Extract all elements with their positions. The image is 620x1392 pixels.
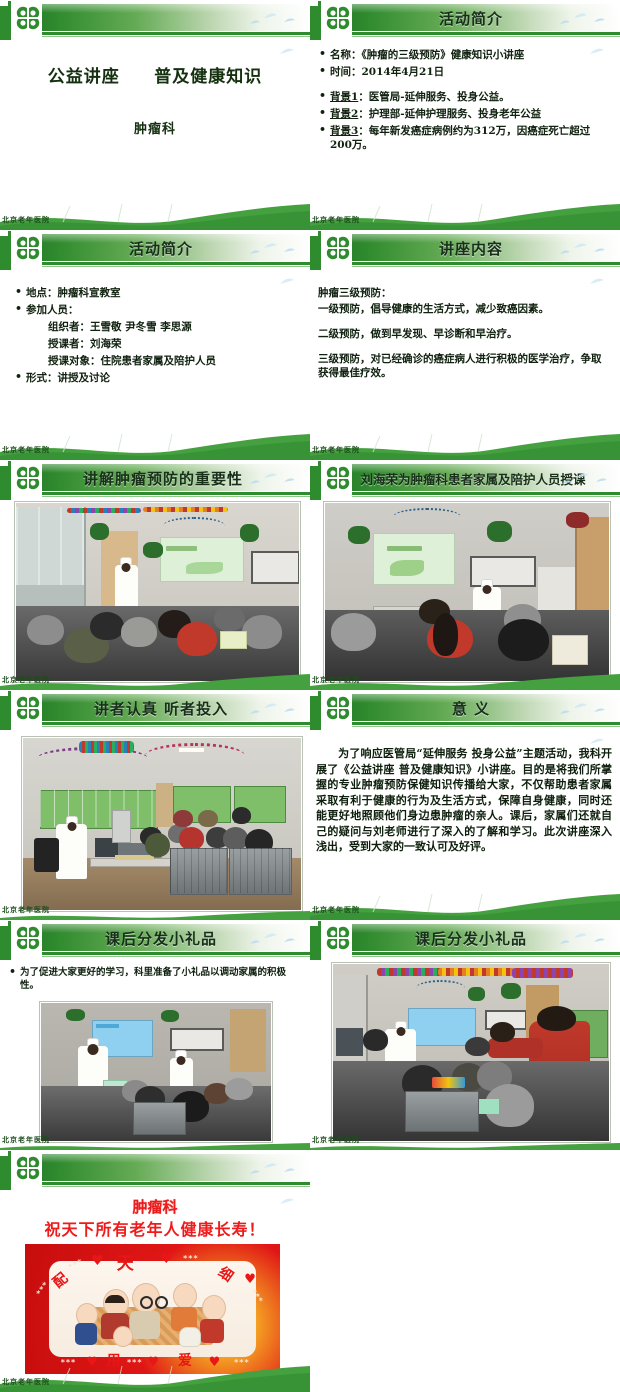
header-rule-thin	[0, 726, 310, 727]
final-department-title: 肿瘤科	[0, 1196, 310, 1217]
bullet-list: 地点：肿瘤科宣教室 参加人员： 组织者：王雪敬 尹冬雪 李思源 授课者：刘海荣 …	[14, 286, 300, 385]
birds-decoration-icon	[244, 928, 306, 954]
footer-hospital-label: 北京老年医院	[2, 445, 50, 455]
list-item: 背景2：护理部-延伸护理服务、投身老年公益	[318, 107, 612, 121]
birds-decoration-icon	[554, 928, 616, 954]
footer-hospital-label: 北京老年医院	[312, 215, 360, 225]
clover-logo-icon	[8, 921, 42, 959]
card-stars: ***	[183, 1254, 199, 1263]
birds-decoration-icon	[554, 238, 616, 264]
list-item: 为了促进大家更好的学习，科里准备了小礼品以调动家属的积极性。	[8, 966, 300, 992]
final-body: 肿瘤科 祝天下所有老年人健康长寿！	[0, 1192, 310, 1378]
list-item: 名称：《肿瘤的三级预防》健康知识小讲座	[318, 48, 612, 62]
footer-hospital-label: 北京老年医院	[312, 675, 360, 685]
slide-final[interactable]: 肿瘤科 祝天下所有老年人健康长寿！	[0, 1150, 310, 1392]
footer-wave: 北京老年医院	[0, 1120, 310, 1150]
birds-decoration-icon	[244, 468, 306, 494]
header-rule-thin	[0, 36, 310, 37]
paragraph: 一级预防，倡导健康的生活方式，减少致癌因素。	[318, 302, 610, 316]
footer-hospital-label: 北京老年医院	[2, 1135, 50, 1145]
content-body: 肿瘤三级预防： 一级预防，倡导健康的生活方式，减少致癌因素。 二级预防，做到早发…	[310, 270, 620, 442]
footer-wave: 北京老年医院	[310, 430, 620, 460]
header-rule-thin	[310, 266, 620, 267]
clover-logo-icon	[8, 231, 42, 269]
footer-wave: 北京老年医院	[310, 200, 620, 230]
header-rule-thin	[0, 1186, 310, 1187]
footer-hospital-label: 北京老年医院	[2, 1377, 50, 1387]
header-rule-thin	[310, 36, 620, 37]
footer-wave: 北京老年医院	[310, 660, 620, 690]
slide-cover[interactable]: 公益讲座 普及健康知识 肿瘤科 北京老年医院	[0, 0, 310, 230]
paragraph: 三级预防，对已经确诊的癌症病人进行积极的医学治疗，争取获得最佳疗效。	[318, 352, 610, 380]
footer-wave: 北京老年医院	[0, 430, 310, 460]
footer-hospital-label: 北京老年医院	[312, 1135, 360, 1145]
slide-title: 活动简介	[366, 6, 576, 30]
footer-wave: 北京老年医院	[0, 1362, 310, 1392]
presentation-deck: 公益讲座 普及健康知识 肿瘤科 北京老年医院 活动简	[0, 0, 620, 1392]
list-item: 组织者：王雪敬 尹冬雪 李思源	[14, 320, 300, 334]
birds-decoration-icon	[244, 238, 306, 264]
slide-title: 课后分发小礼品	[366, 926, 576, 950]
header-rule-thin	[0, 956, 310, 957]
birds-decoration-icon	[244, 8, 306, 34]
paragraph: 肿瘤三级预防：	[318, 286, 610, 300]
list-item: 时间：2014年4月21日	[318, 65, 612, 79]
intro-2-body: 地点：肿瘤科宣教室 参加人员： 组织者：王雪敬 尹冬雪 李思源 授课者：刘海荣 …	[0, 270, 310, 442]
clover-logo-icon	[8, 461, 42, 499]
footer-hospital-label: 北京老年医院	[2, 675, 50, 685]
final-greeting: 祝天下所有老年人健康长寿！	[0, 1216, 310, 1240]
birds-decoration-icon	[556, 468, 618, 494]
footer-hospital-label: 北京老年医院	[2, 905, 50, 915]
photo-projection-lecture	[324, 502, 610, 682]
cover-subtitle: 肿瘤科	[0, 118, 310, 137]
photo-gift-crowd	[332, 963, 610, 1142]
list-item: 授课者：刘海荣	[14, 337, 300, 351]
clover-logo-icon	[8, 1151, 42, 1189]
birds-decoration-icon	[244, 698, 306, 724]
slide-title: 活动简介	[56, 236, 266, 260]
slide-gift-2[interactable]: 课后分发小礼品	[310, 920, 620, 1150]
slide-photo-liu-teaching[interactable]: 刘海荣为肿瘤科患者家属及陪护人员授课	[310, 460, 620, 690]
photo-classroom-audience	[22, 737, 302, 911]
heart-icon: ♥	[160, 1254, 173, 1265]
slide-title: 讲者认真 听者投入	[56, 696, 266, 720]
list-item: 形式：讲授及讨论	[14, 371, 300, 385]
slide-blank-placeholder	[310, 1150, 620, 1392]
heart-icon: ♥	[91, 1256, 104, 1267]
card-word-top: 天	[117, 1249, 134, 1274]
birds-decoration-icon	[554, 8, 616, 34]
intro-1-body: 名称：《肿瘤的三级预防》健康知识小讲座 时间：2014年4月21日 背景1：医管…	[310, 40, 620, 212]
slide-title: 讲解肿瘤预防的重要性	[50, 466, 276, 490]
footer-wave: 北京老年医院	[0, 200, 310, 230]
list-item: 授课对象：住院患者家属及陪护人员	[14, 354, 300, 368]
footer-wave: 北京老年医院	[310, 1120, 620, 1150]
slide-intro-1[interactable]: 活动简介 名称：《肿瘤的三级预防》健康知识小讲座 时间：2014年4月21日 背…	[310, 0, 620, 230]
footer-wave: 北京老年医院	[310, 890, 620, 920]
clover-logo-icon	[318, 1, 352, 39]
cover-title: 公益讲座 普及健康知识	[0, 62, 310, 87]
slide-title: 讲座内容	[366, 236, 576, 260]
list-item: 参加人员：	[14, 303, 300, 317]
header-rule-thin	[310, 726, 620, 727]
header-rule-thin	[310, 496, 620, 497]
clover-logo-icon	[318, 691, 352, 729]
clover-logo-icon	[8, 1, 42, 39]
clover-logo-icon	[318, 461, 352, 499]
gift-bullet-wrap: 为了促进大家更好的学习，科里准备了小礼品以调动家属的积极性。	[8, 966, 300, 995]
paragraph: 二级预防，做到早发现、早诊断和早治疗。	[318, 327, 610, 341]
clover-logo-icon	[318, 231, 352, 269]
bullet-list: 名称：《肿瘤的三级预防》健康知识小讲座 时间：2014年4月21日 背景1：医管…	[318, 48, 612, 152]
slide-gift-1[interactable]: 课后分发小礼品 为了促进大家更好的学习，科里准备了小礼品以调动家属的积极性。	[0, 920, 310, 1150]
slide-title: 课后分发小礼品	[56, 926, 266, 950]
list-item: 背景1：医管局-延伸服务、投身公益。	[318, 90, 612, 104]
footer-hospital-label: 北京老年医院	[312, 905, 360, 915]
footer-hospital-label: 北京老年医院	[312, 445, 360, 455]
slide-title: 意 义	[366, 696, 576, 720]
slide-photo-audience[interactable]: 讲者认真 听者投入	[0, 690, 310, 920]
slide-photo-lecture-importance[interactable]: 讲解肿瘤预防的重要性	[0, 460, 310, 690]
header-rule-thin	[0, 266, 310, 267]
greeting-card-image: 天 配 细 用 爱 ♥ ♥ ♥ ♥ ♥ ♥ *** *** *** *** **…	[25, 1244, 280, 1374]
footer-wave: 北京老年医院	[0, 890, 310, 920]
photo-lecture-room	[15, 502, 300, 682]
meaning-body: 为了响应医管局“延伸服务 投身公益”主题活动，我科开展了《公益讲座 普及健康知识…	[310, 730, 620, 902]
clover-logo-icon	[8, 691, 42, 729]
birds-decoration-icon	[554, 698, 616, 724]
footer-wave: 北京老年医院	[0, 660, 310, 690]
slide-content[interactable]: 讲座内容 肿瘤三级预防： 一级预防，倡导健康的生活方式，减少致癌因素。 二级预防…	[310, 230, 620, 460]
slide-meaning[interactable]: 意 义 为了响应医管局“延伸服务 投身公益”主题活动，我科开展了《公益讲座 普及…	[310, 690, 620, 920]
list-item: 背景3：每年新发癌症病例约为312万，因癌症死亡超过200万。	[318, 124, 612, 152]
list-item: 地点：肿瘤科宣教室	[14, 286, 300, 300]
bullet-list: 为了促进大家更好的学习，科里准备了小礼品以调动家属的积极性。	[8, 966, 300, 992]
footer-hospital-label: 北京老年医院	[2, 215, 50, 225]
cover-body: 公益讲座 普及健康知识 肿瘤科	[0, 40, 310, 212]
header-rule-thin	[0, 496, 310, 497]
header-rule-thin	[310, 956, 620, 957]
slide-intro-2[interactable]: 活动简介 地点：肿瘤科宣教室 参加人员： 组织者：王雪敬 尹冬雪 李思源 授课者…	[0, 230, 310, 460]
birds-decoration-icon	[244, 1158, 306, 1184]
heart-icon: ♥	[244, 1274, 256, 1285]
meaning-paragraph: 为了响应医管局“延伸服务 投身公益”主题活动，我科开展了《公益讲座 普及健康知识…	[316, 746, 612, 855]
clover-logo-icon	[318, 921, 352, 959]
